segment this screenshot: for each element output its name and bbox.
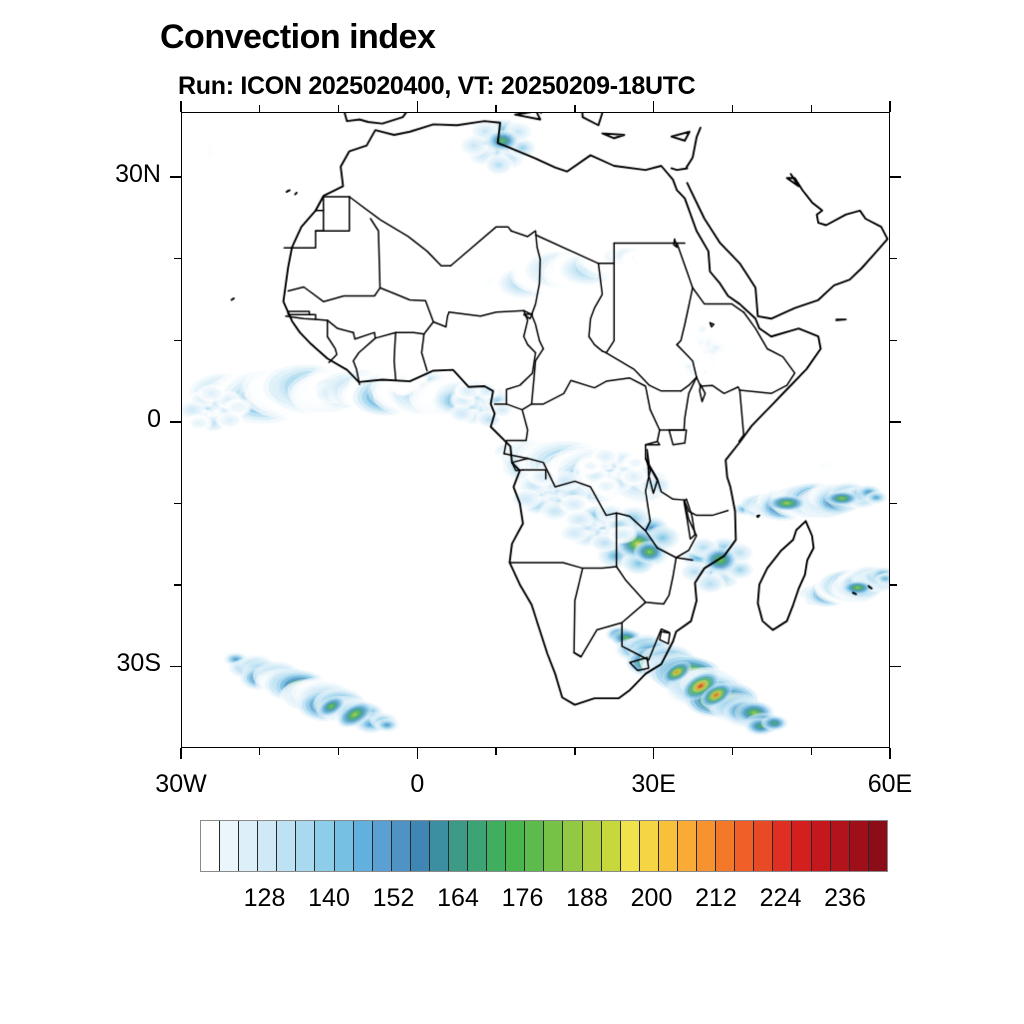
colorbar-labels: 128140152164176188200212224236 <box>200 884 888 918</box>
colorbar-cell <box>506 821 525 871</box>
colorbar-cell <box>277 821 296 871</box>
x-tick-major <box>417 748 419 759</box>
colorbar-cell <box>449 821 468 871</box>
colorbar-cell <box>831 821 850 871</box>
colorbar-cell <box>430 821 449 871</box>
y-tick-minor <box>174 503 181 504</box>
colorbar-cell <box>640 821 659 871</box>
page-title: Convection index <box>160 18 435 57</box>
x-tick-label: 0 <box>347 770 487 799</box>
x-tick-minor <box>732 748 733 755</box>
y-tick-major <box>170 666 181 668</box>
x-tick-major-top <box>653 101 655 112</box>
x-tick-minor-top <box>495 105 496 112</box>
y-tick-minor <box>174 340 181 341</box>
x-tick-minor <box>259 748 260 755</box>
colorbar-cell <box>773 821 792 871</box>
y-tick-minor-right <box>890 503 897 504</box>
x-tick-label: 60E <box>820 770 960 799</box>
y-tick-major-right <box>890 666 901 668</box>
x-tick-minor-top <box>574 105 575 112</box>
colorbar-cell <box>296 821 315 871</box>
colorbar-cell <box>411 821 430 871</box>
colorbar-cell <box>335 821 354 871</box>
colorbar-cell <box>621 821 640 871</box>
y-tick-minor-right <box>890 258 897 259</box>
y-tick-major-right <box>890 421 901 423</box>
x-tick-minor <box>574 748 575 755</box>
x-tick-label: 30W <box>111 770 251 799</box>
colorbar-cell <box>869 821 887 871</box>
x-tick-major-top <box>180 101 182 112</box>
y-tick-major <box>170 176 181 178</box>
colorbar-cell <box>468 821 487 871</box>
colorbar-cell <box>201 821 220 871</box>
colorbar-cell <box>716 821 735 871</box>
colorbar-cell <box>544 821 563 871</box>
colorbar-cell <box>487 821 506 871</box>
colorbar-cell <box>239 821 258 871</box>
y-tick-minor <box>174 584 181 585</box>
colorbar-cell <box>697 821 716 871</box>
y-tick-label: 30N <box>41 160 161 189</box>
x-tick-minor-top <box>259 105 260 112</box>
y-tick-major-right <box>890 176 901 178</box>
colorbar-cell <box>258 821 277 871</box>
map-canvas <box>182 113 889 747</box>
colorbar-cell <box>563 821 582 871</box>
x-tick-major-top <box>889 101 891 112</box>
colorbar-cell <box>812 821 831 871</box>
colorbar-cell <box>354 821 373 871</box>
x-tick-minor-top <box>732 105 733 112</box>
y-tick-minor <box>174 258 181 259</box>
x-tick-major-top <box>417 101 419 112</box>
colorbar-cell <box>373 821 392 871</box>
colorbar-cell <box>754 821 773 871</box>
map-plot-area <box>181 112 890 748</box>
colorbar-cell <box>850 821 869 871</box>
x-tick-major <box>653 748 655 759</box>
colorbar-cell <box>735 821 754 871</box>
y-tick-minor-right <box>890 584 897 585</box>
colorbar-cell <box>602 821 621 871</box>
x-tick-major <box>180 748 182 759</box>
y-tick-label: 0 <box>41 405 161 434</box>
page-subtitle: Run: ICON 2025020400, VT: 20250209-18UTC <box>178 72 695 101</box>
colorbar-cell <box>525 821 544 871</box>
x-tick-minor <box>338 748 339 755</box>
x-tick-minor <box>495 748 496 755</box>
colorbar-cell <box>659 821 678 871</box>
colorbar-cell <box>792 821 811 871</box>
x-tick-minor-top <box>811 105 812 112</box>
colorbar-cell <box>678 821 697 871</box>
colorbar-cell <box>315 821 334 871</box>
x-tick-minor-top <box>338 105 339 112</box>
colorbar-tick-label: 236 <box>805 884 885 913</box>
x-tick-label: 30E <box>584 770 724 799</box>
colorbar-cell <box>583 821 602 871</box>
y-tick-label: 30S <box>41 649 161 678</box>
colorbar <box>200 820 888 872</box>
x-tick-major <box>889 748 891 759</box>
y-tick-minor-right <box>890 340 897 341</box>
colorbar-cell <box>220 821 239 871</box>
x-tick-minor <box>811 748 812 755</box>
y-tick-major <box>170 421 181 423</box>
colorbar-cell <box>392 821 411 871</box>
